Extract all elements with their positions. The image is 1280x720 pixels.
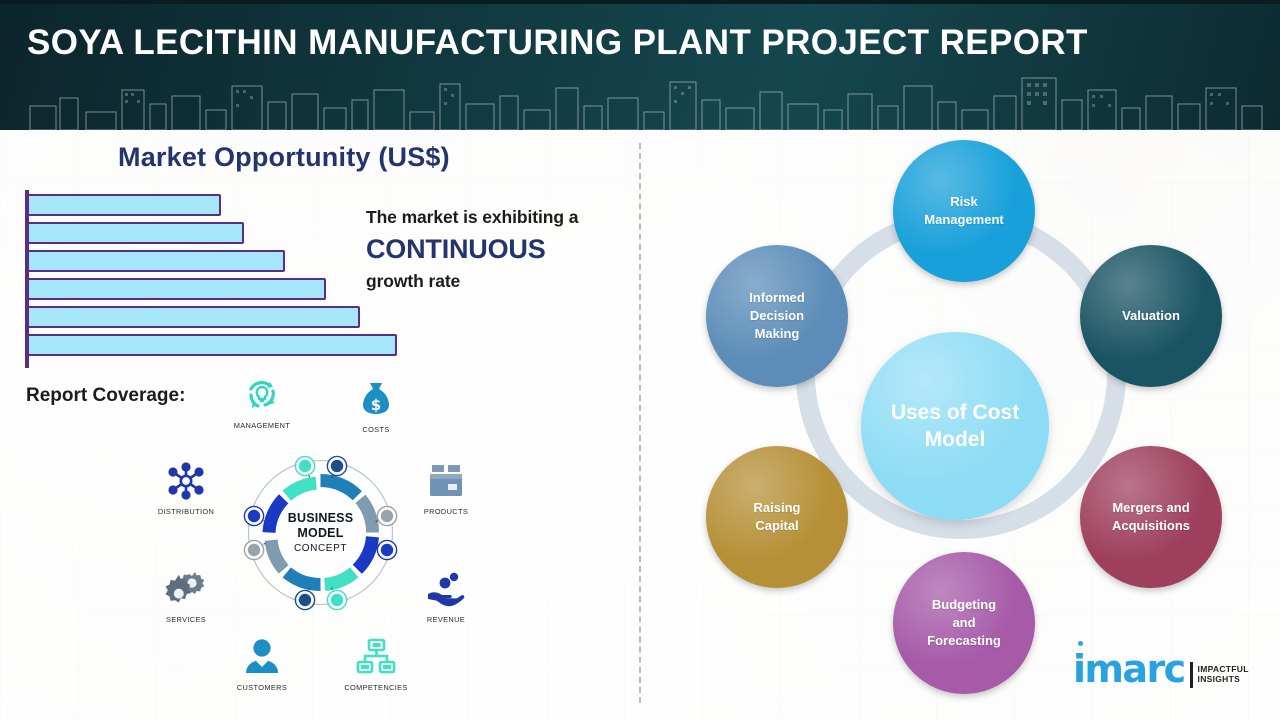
logo-tagline-line2: INSIGHTS (1198, 674, 1249, 684)
coverage-item-costs: $ COSTS (330, 376, 422, 434)
coverage-item-label: SERVICES (140, 615, 232, 624)
chart-bar (27, 334, 397, 356)
slide-root: SOYA LECITHIN MANUFACTURING PLANT PROJEC… (0, 0, 1280, 720)
market-opportunity-bar-chart (25, 190, 405, 368)
coverage-item-label: CUSTOMERS (216, 683, 308, 692)
node-valuation[interactable]: Valuation (1080, 245, 1222, 387)
logo-dot-icon (1078, 641, 1083, 646)
report-coverage-cluster: MANAGEMENT $ COSTS (140, 372, 500, 702)
market-opportunity-title: Market Opportunity (US$) (118, 142, 450, 173)
coverage-item-label: DISTRIBUTION (140, 507, 232, 516)
coverage-item-label: COMPETENCIES (330, 683, 422, 692)
logo-tagline-line1: IMPACTFUL (1198, 664, 1249, 674)
chart-bar (27, 306, 360, 328)
blurb-line-1: The market is exhibiting a (366, 205, 636, 229)
chart-bar (27, 250, 285, 272)
node-label-line: Capital (748, 517, 807, 535)
header-top-rule (0, 0, 1280, 4)
person-user-icon (216, 634, 308, 680)
node-label-line: Risk (918, 193, 1009, 211)
coverage-item-label: PRODUCTS (400, 507, 492, 516)
chart-bar (27, 222, 244, 244)
blurb-line-3: growth rate (366, 269, 636, 293)
center-node-uses-of-cost-model: Uses of Cost Model (861, 332, 1049, 520)
node-label-line: Management (918, 211, 1009, 229)
business-model-donut: BUSINESS MODEL CONCEPT (238, 450, 403, 615)
header-banner: SOYA LECITHIN MANUFACTURING PLANT PROJEC… (0, 0, 1280, 130)
coverage-item-competencies: COMPETENCIES (330, 634, 422, 692)
coverage-item-products: PRODUCTS (400, 458, 492, 516)
coverage-item-label: REVENUE (400, 615, 492, 624)
blurb-line-2: CONTINUOUS (366, 229, 636, 269)
node-budgeting-and-forecasting[interactable]: Budgeting and Forecasting (893, 552, 1035, 694)
center-node-line1: Uses of (891, 401, 967, 424)
node-label-line: Making (743, 325, 811, 343)
city-skyline-icon (0, 60, 1280, 130)
coverage-item-services: SERVICES (140, 566, 232, 624)
coverage-item-customers: CUSTOMERS (216, 634, 308, 692)
chart-bar (27, 194, 221, 216)
coverage-item-label: COSTS (330, 425, 422, 434)
growth-blurb: The market is exhibiting a CONTINUOUS gr… (366, 205, 636, 293)
chart-bar (27, 278, 326, 300)
coverage-item-label: MANAGEMENT (216, 421, 308, 430)
org-chart-icon (330, 634, 422, 680)
money-bag-icon: $ (330, 376, 422, 422)
uses-of-cost-model-diagram: Uses of Cost Model Risk Management Valua… (648, 132, 1280, 720)
coverage-item-management: MANAGEMENT (216, 372, 308, 430)
page-title: SOYA LECITHIN MANUFACTURING PLANT PROJEC… (27, 20, 1127, 66)
node-informed-decision-making[interactable]: Informed Decision Making (706, 245, 848, 387)
node-label-line: Informed (743, 289, 811, 307)
node-label-line: Forecasting (921, 632, 1007, 650)
node-label-line: Acquisitions (1106, 517, 1196, 535)
logo-separator (1190, 662, 1193, 688)
node-label-line: Raising (748, 499, 807, 517)
node-label-line: Mergers and (1106, 499, 1196, 517)
panel-divider (639, 143, 641, 703)
node-label-line: Decision (743, 307, 811, 325)
node-mergers-and-acquisitions[interactable]: Mergers and Acquisitions (1080, 446, 1222, 588)
svg-text:$: $ (371, 396, 381, 414)
network-nodes-icon (140, 458, 232, 504)
node-risk-management[interactable]: Risk Management (893, 140, 1035, 282)
package-box-icon (400, 458, 492, 504)
node-label-line: Valuation (1116, 307, 1186, 325)
node-label-line: and (921, 614, 1007, 632)
node-raising-capital[interactable]: Raising Capital (706, 446, 848, 588)
coverage-item-revenue: REVENUE (400, 566, 492, 624)
logo-wordmark: imarc (1073, 650, 1185, 688)
imarc-logo[interactable]: imarc IMPACTFUL INSIGHTS (1073, 650, 1273, 708)
coverage-item-distribution: DISTRIBUTION (140, 458, 232, 516)
recycle-lightbulb-icon (216, 372, 308, 418)
hand-coins-icon (400, 566, 492, 612)
node-label-line: Budgeting (921, 596, 1007, 614)
gears-icon (140, 566, 232, 612)
